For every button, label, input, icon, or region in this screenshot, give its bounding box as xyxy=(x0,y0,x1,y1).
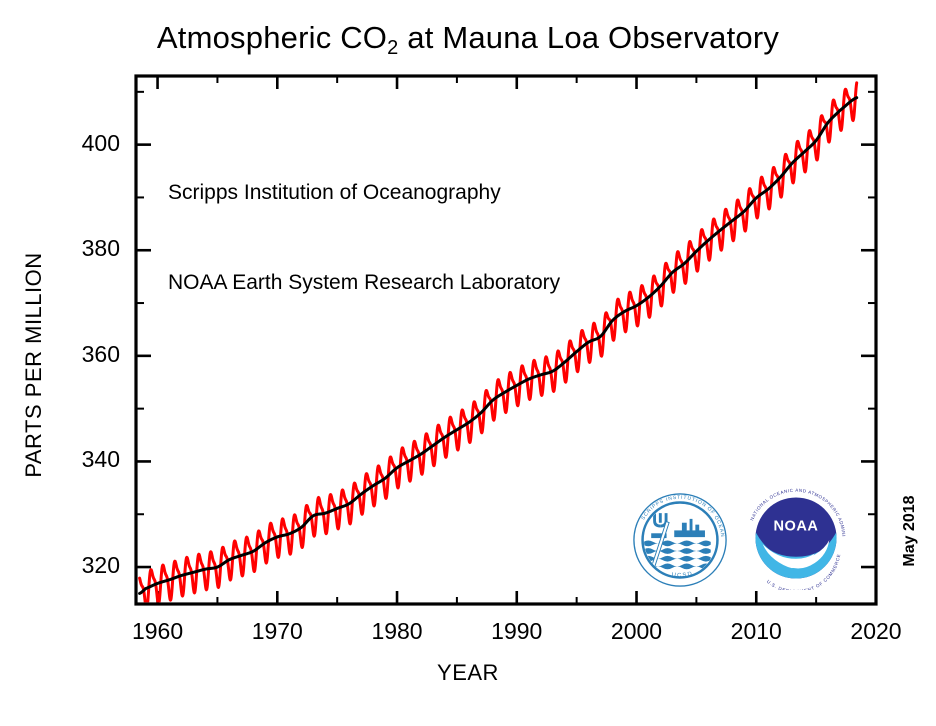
scripps-logo: SCRIPPS INSTITUTION OF OCEANOGRAPHY UCSD xyxy=(632,492,728,588)
chart-canvas: Atmospheric CO2 at Mauna Loa Observatory… xyxy=(0,0,936,726)
plot-area xyxy=(0,0,936,726)
noaa-wordmark: NOAA xyxy=(774,519,819,535)
noaa-logo: NOAA NATIONAL OCEANIC AND ATMOSPHERIC AD… xyxy=(744,486,848,590)
